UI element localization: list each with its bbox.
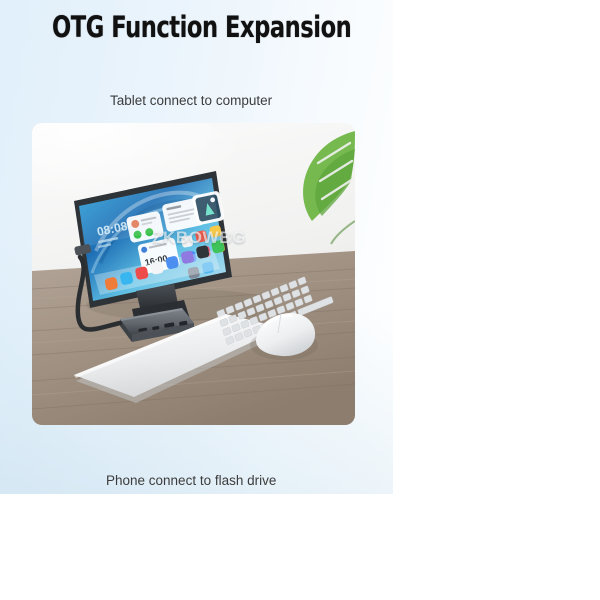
caption-tablet-connect: Tablet connect to computer — [110, 93, 272, 108]
product-photo: 08:08 — [32, 123, 355, 425]
promo-background-white-area — [393, 0, 600, 494]
caption-phone-connect: Phone connect to flash drive — [106, 473, 276, 488]
product-photo-illustration: 08:08 — [32, 123, 355, 425]
page-title: OTG Function Expansion — [52, 10, 351, 44]
